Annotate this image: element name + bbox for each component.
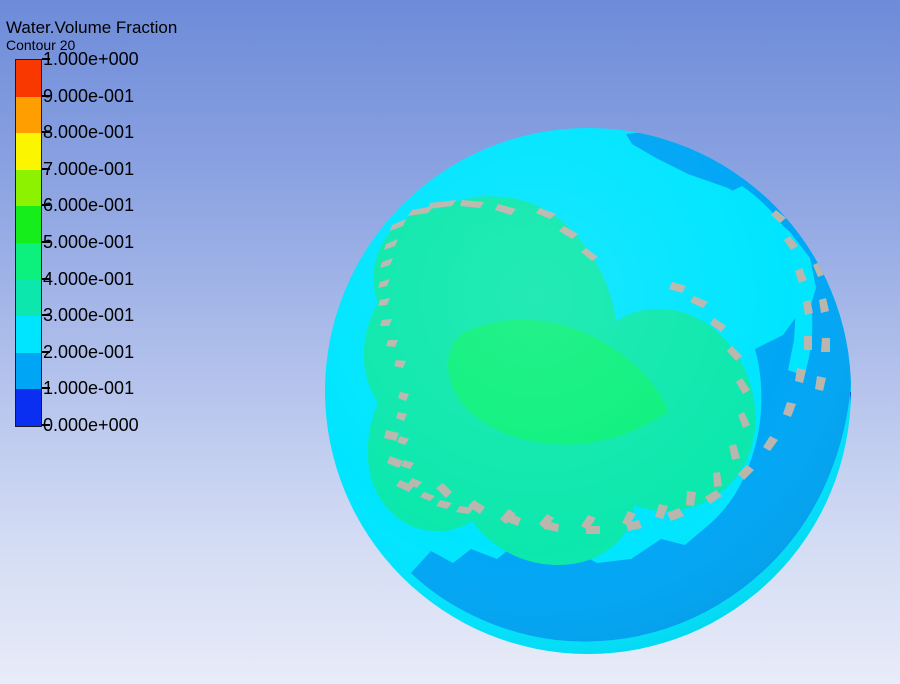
legend-tick-label: 0.000e+000 [43, 414, 139, 436]
contour-legend: Water.Volume Fraction Contour 20 1.000e+… [6, 18, 236, 439]
legend-tick-label: 5.000e-001 [43, 231, 134, 253]
legend-tick-label: 2.000e-001 [43, 341, 134, 363]
legend-tick-label: 9.000e-001 [43, 85, 134, 107]
cfd-viewport: Water.Volume Fraction Contour 20 1.000e+… [0, 0, 900, 684]
legend-tick-label: 6.000e-001 [43, 194, 134, 216]
legend-tick-label: 4.000e-001 [43, 268, 134, 290]
legend-tick-label: 3.000e-001 [43, 304, 134, 326]
legend-title: Water.Volume Fraction [6, 18, 236, 37]
legend-tick-label: 1.000e+000 [43, 48, 139, 70]
legend-tick-label: 7.000e-001 [43, 158, 134, 180]
legend-body: 1.000e+0009.000e-0018.000e-0017.000e-001… [6, 59, 236, 439]
legend-tick-label: 8.000e-001 [43, 121, 134, 143]
legend-tick-list: 1.000e+0009.000e-0018.000e-0017.000e-001… [6, 59, 226, 425]
legend-tick-label: 1.000e-001 [43, 377, 134, 399]
sphere-shading-overlay [325, 128, 851, 654]
